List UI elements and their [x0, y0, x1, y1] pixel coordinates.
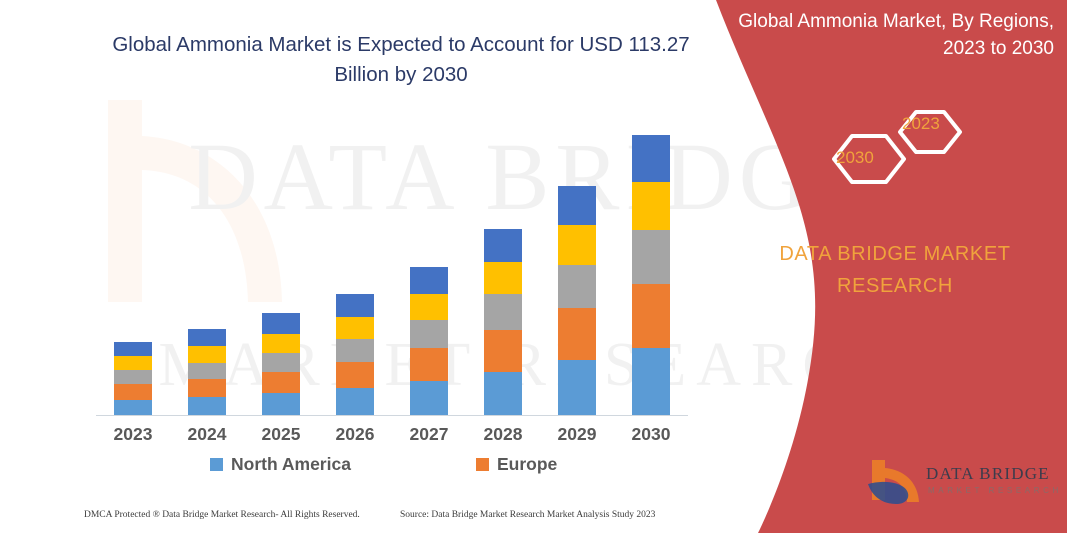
bar-segment	[114, 342, 152, 356]
bar-segment	[410, 381, 448, 415]
bar-segment	[484, 330, 522, 372]
bar-segment	[484, 294, 522, 330]
bar-segment	[632, 348, 670, 415]
legend-item[interactable]: Europe	[476, 454, 557, 475]
bar-group	[96, 342, 170, 415]
bar-segment	[632, 284, 670, 348]
legend-swatch-icon	[476, 458, 489, 471]
logo-subtitle: MARKET RESEARCH	[928, 486, 1062, 495]
bar-group	[540, 186, 614, 415]
bar-segment	[336, 294, 374, 317]
x-axis-label: 2024	[170, 424, 244, 445]
bar-segment	[336, 388, 374, 415]
footer-source-text: Source: Data Bridge Market Research Mark…	[400, 510, 655, 520]
bar-segment	[484, 262, 522, 294]
bar-group	[170, 329, 244, 416]
legend-swatch-icon	[210, 458, 223, 471]
panel-brand-text: DATA BRIDGE MARKET RESEARCH	[738, 238, 1052, 302]
bar-segment	[188, 397, 226, 415]
bar-segment	[336, 339, 374, 362]
bar-segment	[632, 135, 670, 182]
bar-segment	[262, 393, 300, 415]
x-axis-label: 2025	[244, 424, 318, 445]
page-title: Global Ammonia Market is Expected to Acc…	[96, 30, 706, 90]
bar-segment	[188, 346, 226, 363]
bar-group	[392, 267, 466, 415]
chart-plot-area	[96, 110, 688, 416]
red-panel-content: Global Ammonia Market, By Regions, 2023 …	[718, 0, 1067, 533]
infographic-root: DATA BRIDGE MARKET RESEARCH Global Ammon…	[0, 0, 1067, 533]
bar-segment	[410, 294, 448, 319]
x-axis-label: 2029	[540, 424, 614, 445]
footer-dmca-text: DMCA Protected ® Data Bridge Market Rese…	[84, 510, 360, 520]
x-axis-label: 2027	[392, 424, 466, 445]
data-bridge-mark-icon	[866, 458, 924, 506]
data-bridge-logo: DATA BRIDGE MARKET RESEARCH	[866, 458, 1056, 510]
hexagon-2030-label: 2030	[836, 148, 874, 168]
x-axis-tick-labels: 20232024202520262027202820292030	[96, 424, 688, 450]
x-axis-label: 2028	[466, 424, 540, 445]
bar-segment	[188, 363, 226, 380]
bar-segment	[632, 182, 670, 230]
bar-segment	[558, 265, 596, 308]
bar-segment	[484, 229, 522, 262]
legend-item[interactable]: North America	[210, 454, 351, 475]
x-axis-line	[96, 415, 688, 416]
footer: DMCA Protected ® Data Bridge Market Rese…	[0, 508, 710, 530]
bar-segment	[336, 362, 374, 389]
bar-segment	[114, 356, 152, 370]
bar-segment	[114, 400, 152, 415]
bar-segment	[336, 317, 374, 339]
bar-segment	[632, 230, 670, 283]
bar-segment	[410, 348, 448, 381]
bar-segment	[188, 329, 226, 347]
bar-segment	[558, 360, 596, 415]
legend-label: Europe	[497, 454, 557, 475]
bar-segment	[262, 313, 300, 333]
bar-group	[244, 313, 318, 415]
bar-segment	[558, 308, 596, 360]
bar-segment	[114, 370, 152, 384]
bar-segment	[114, 384, 152, 399]
bar-segment	[188, 379, 226, 397]
bar-segment	[262, 334, 300, 353]
x-axis-label: 2030	[614, 424, 688, 445]
bar-segment	[262, 353, 300, 372]
bar-segment	[484, 372, 522, 415]
bar-segment	[558, 225, 596, 264]
bar-segment	[410, 267, 448, 294]
chart-legend: North AmericaEurope	[96, 454, 688, 480]
panel-title: Global Ammonia Market, By Regions, 2023 …	[736, 8, 1054, 62]
x-axis-label: 2023	[96, 424, 170, 445]
hexagon-group: 2030 2023	[808, 88, 1008, 208]
x-axis-label: 2026	[318, 424, 392, 445]
bar-segment	[558, 186, 596, 225]
legend-label: North America	[231, 454, 351, 475]
hexagon-2023-label: 2023	[902, 114, 940, 134]
bar-group	[318, 294, 392, 415]
bar-segment	[262, 372, 300, 394]
bar-group	[466, 229, 540, 415]
logo-wordmark: DATA BRIDGE	[926, 464, 1050, 484]
bar-group	[614, 135, 688, 415]
bar-segment	[410, 320, 448, 348]
